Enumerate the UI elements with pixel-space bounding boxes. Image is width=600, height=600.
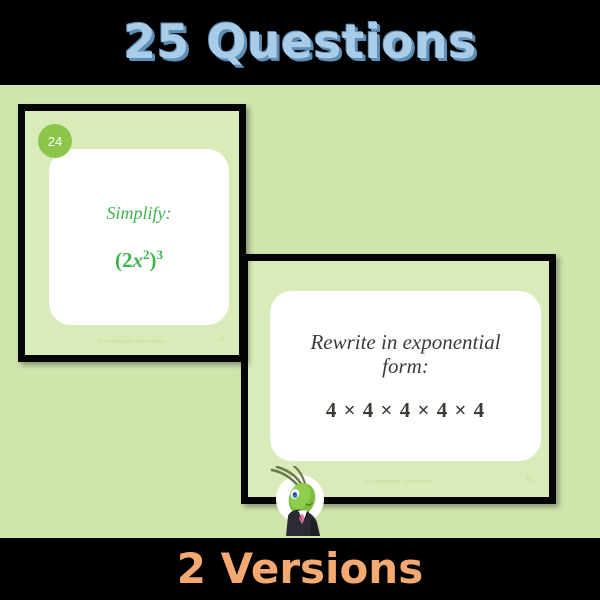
- card-page-number-1: 24: [218, 337, 225, 343]
- grasshopper-mascot-icon: [270, 466, 334, 540]
- card-expression-2: 4 × 4 × 4 × 4 × 4: [326, 400, 485, 421]
- card-content-area-2: Rewrite in exponential form: 4 × 4 × 4 ×…: [270, 291, 541, 461]
- expression-outer-exponent: 3: [157, 247, 164, 262]
- footer-banner: 2 Versions: [0, 538, 600, 600]
- question-card-1[interactable]: 24 Simplify: (2x2)3 © Grasshopper Mathem…: [18, 104, 246, 362]
- card-page-number-2: 65: [526, 477, 533, 483]
- card-prompt-1: Simplify:: [107, 203, 172, 223]
- header-banner: 25 Questions: [0, 0, 600, 85]
- question-number-badge: 24: [38, 124, 72, 158]
- card-expression-1: (2x2)3: [115, 250, 163, 271]
- copyright-credit: © Grasshopper Mathematics: [98, 339, 167, 345]
- expression-variable: x: [132, 248, 143, 272]
- promo-graphic: 25 Questions 24 Simplify: (2x2)3 © Grass…: [0, 0, 600, 600]
- expression-prefix: (2: [115, 248, 133, 272]
- page-title: 25 Questions: [123, 19, 476, 66]
- card-content-area-1: Simplify: (2x2)3: [49, 149, 229, 325]
- versions-title: 2 Versions: [177, 548, 423, 590]
- expression-close-paren: ): [150, 248, 157, 272]
- card-footer-1: © Grasshopper Mathematics: [25, 339, 239, 345]
- card-prompt-2: Rewrite in exponential form:: [301, 331, 511, 378]
- copyright-credit: © Grasshopper Mathematics: [364, 479, 433, 485]
